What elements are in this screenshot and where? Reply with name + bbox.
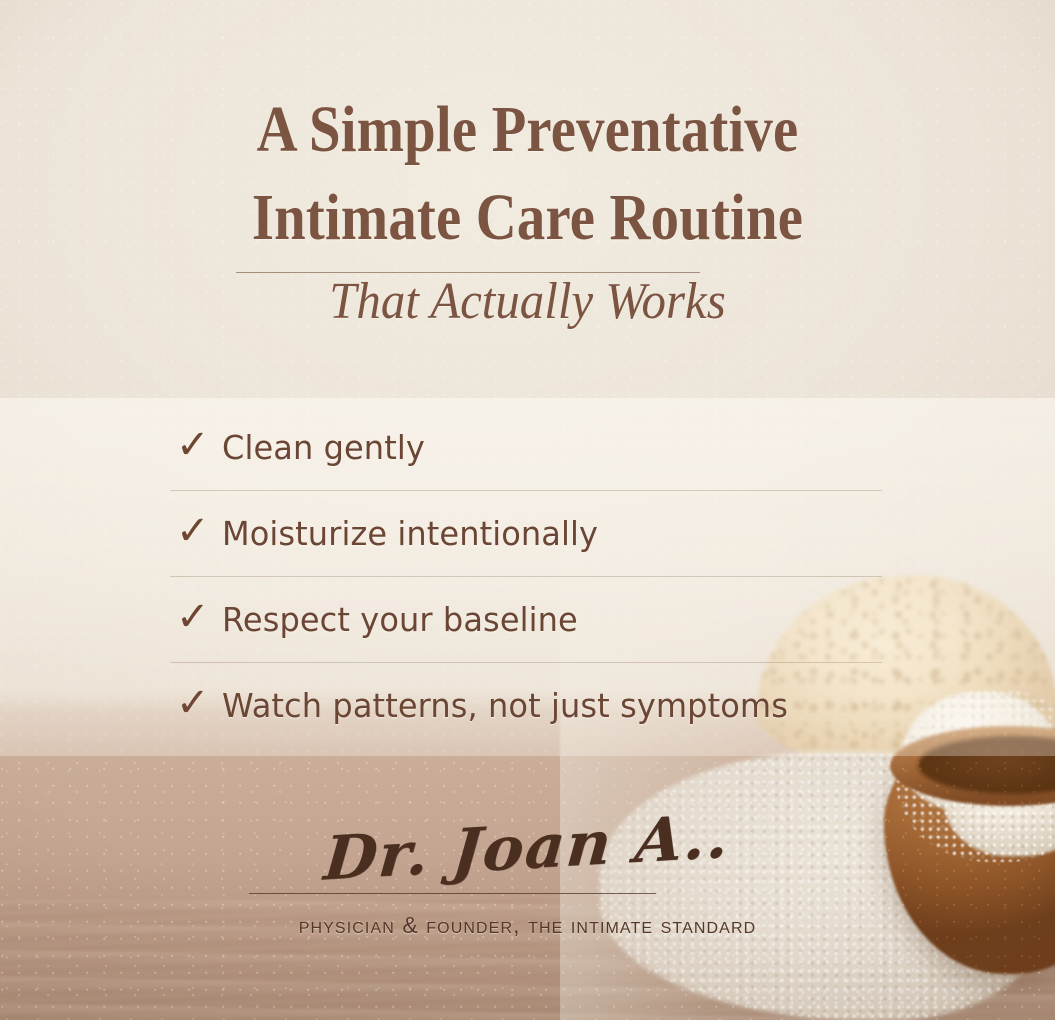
check-icon: ✓ xyxy=(176,511,222,551)
subheadline-divider xyxy=(236,272,700,273)
poster-canvas: A Simple Preventative Intimate Care Rout… xyxy=(0,0,1055,1020)
headline-block: A Simple Preventative Intimate Care Rout… xyxy=(0,86,1055,331)
checklist: ✓ Clean gently ✓ Moisturize intentionall… xyxy=(176,404,896,748)
signature-block: Dr. Joan A.. xyxy=(0,818,1055,878)
list-item-label: Clean gently xyxy=(222,428,425,467)
list-item-label: Watch patterns, not just symptoms xyxy=(222,686,788,725)
signature-divider xyxy=(249,893,656,894)
page-title: A Simple Preventative Intimate Care Rout… xyxy=(74,86,981,262)
list-item-label: Respect your baseline xyxy=(222,600,578,639)
check-icon: ✓ xyxy=(176,597,222,637)
list-item: ✓ Respect your baseline xyxy=(176,576,896,662)
check-icon: ✓ xyxy=(176,683,222,723)
check-icon: ✓ xyxy=(176,425,222,465)
list-item-label: Moisturize intentionally xyxy=(222,514,598,553)
list-item: ✓ Clean gently xyxy=(176,404,896,490)
headline-line-1: A Simple Preventative xyxy=(74,86,981,174)
signature-caption: Physician & Founder, The Intimate Standa… xyxy=(0,912,1055,939)
signature-name: Dr. Joan A.. xyxy=(322,806,732,889)
subheadline: That Actually Works xyxy=(32,272,1024,331)
headline-line-2: Intimate Care Routine xyxy=(74,174,981,262)
list-item: ✓ Watch patterns, not just symptoms xyxy=(176,662,896,748)
poster-content: A Simple Preventative Intimate Care Rout… xyxy=(0,0,1055,1020)
list-item: ✓ Moisturize intentionally xyxy=(176,490,896,576)
